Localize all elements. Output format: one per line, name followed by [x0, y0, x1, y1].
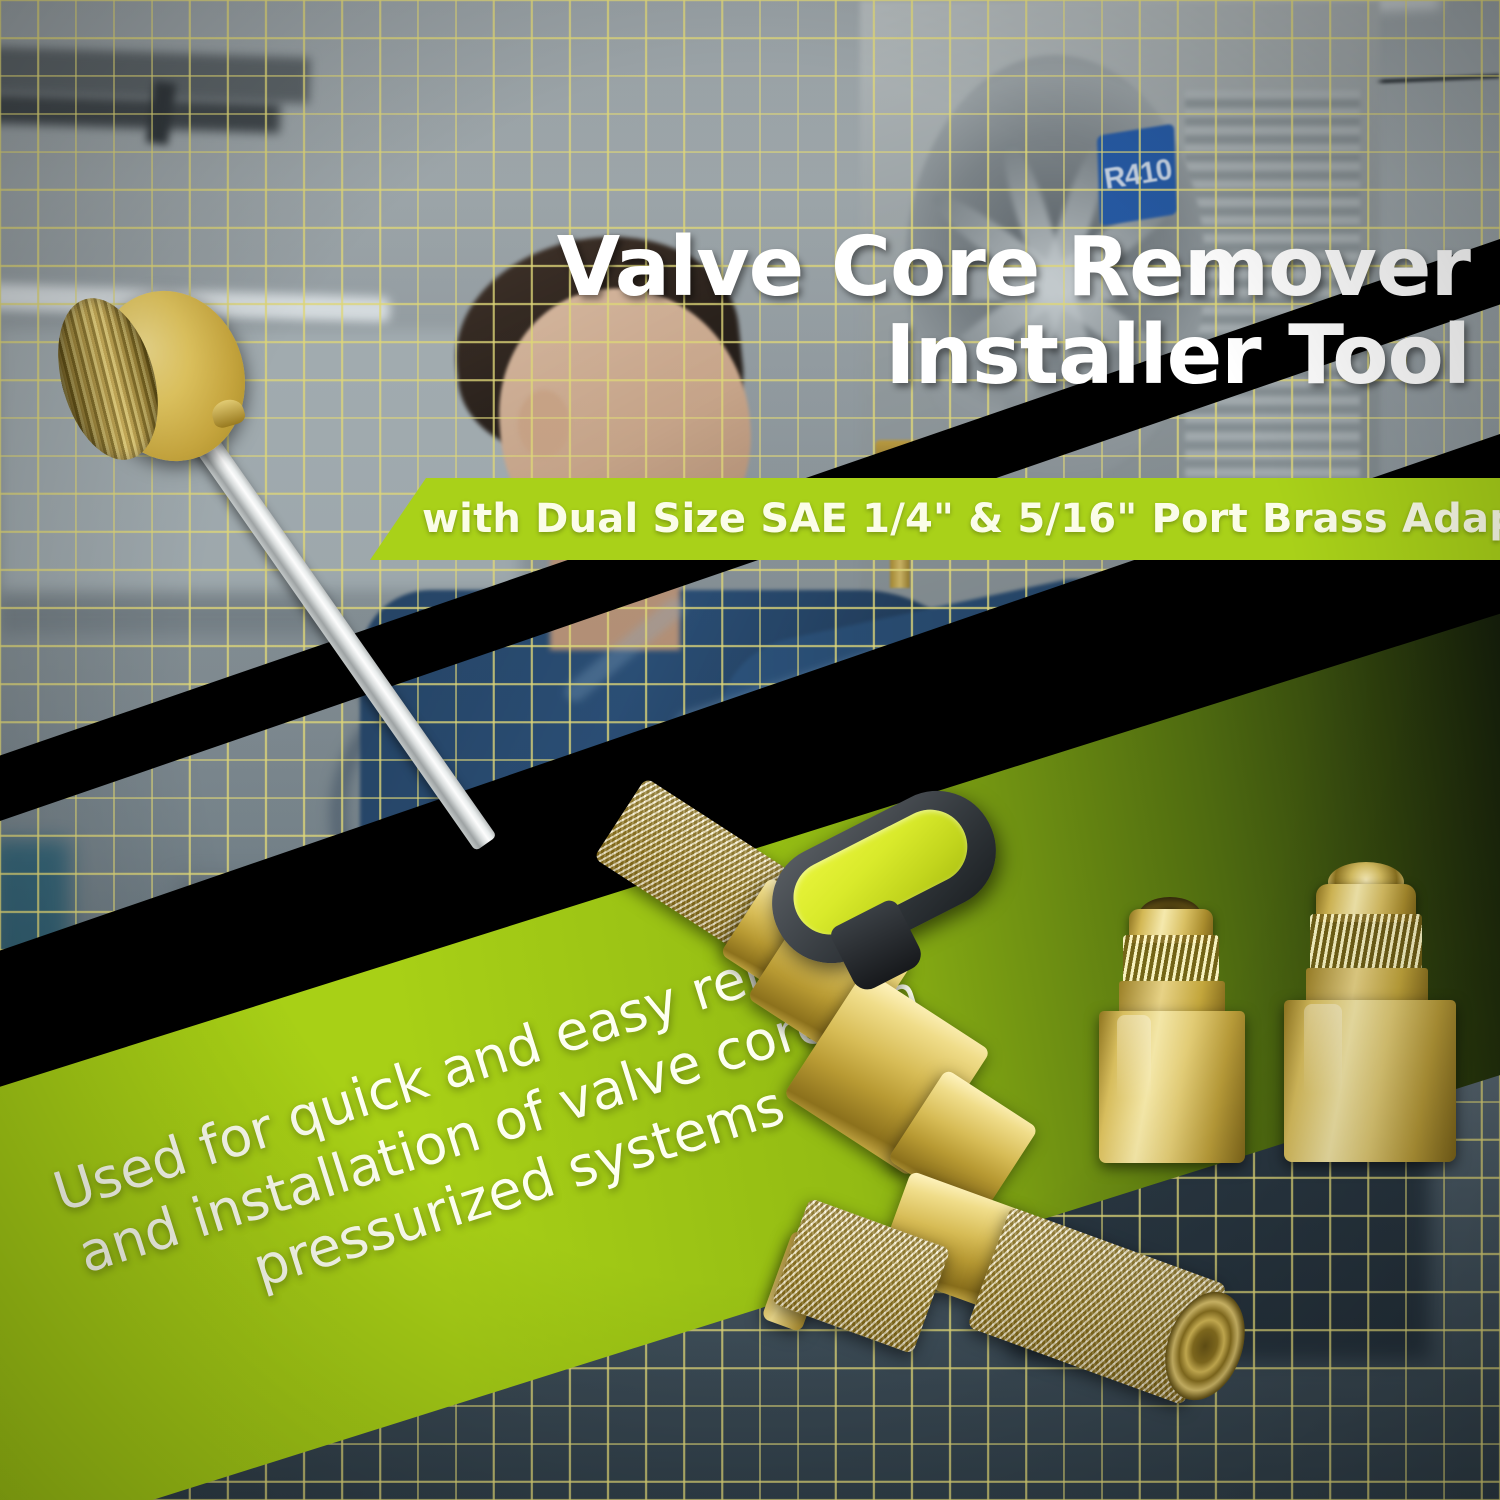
- small-adapter-thread: [1123, 935, 1219, 985]
- title-line-2: Installer Tool: [470, 316, 1470, 396]
- product-marketing-image: R410: [0, 0, 1500, 1500]
- subtitle-banner: with Dual Size SAE 1/4" & 5/16" Port Bra…: [370, 478, 1500, 560]
- large-adapter-hex-body: [1284, 1000, 1456, 1162]
- brass-knurled-knob: [62, 282, 244, 464]
- sae-five-sixteenth-brass-adapter: [1290, 862, 1500, 1172]
- title-line-1: Valve Core Remover: [557, 220, 1470, 315]
- page-title: Valve Core Remover Installer Tool: [470, 228, 1470, 397]
- subtitle-banner-text: with Dual Size SAE 1/4" & 5/16" Port Bra…: [422, 496, 1500, 542]
- sae-quarter-inch-brass-adapter: [1095, 895, 1295, 1185]
- small-adapter-hex-body: [1099, 1011, 1245, 1163]
- large-adapter-thread: [1310, 914, 1422, 972]
